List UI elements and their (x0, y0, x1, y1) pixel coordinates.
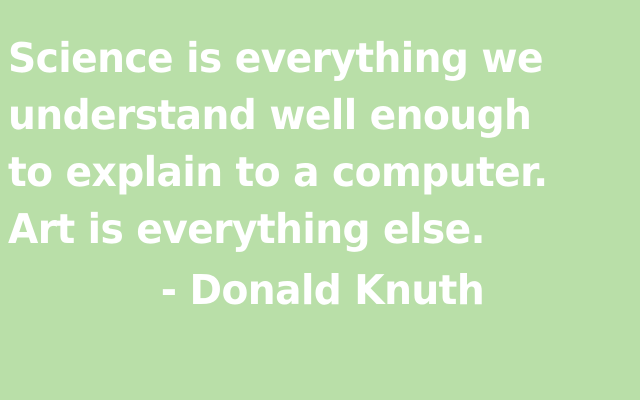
quote-line-4: Art is everything else. (8, 201, 606, 258)
quote-text-block: Science is everything we understand well… (8, 30, 634, 258)
quote-line-2: understand well enough (8, 87, 606, 144)
quote-line-1: Science is everything we (8, 30, 606, 87)
quote-line-3: to explain to a computer. (8, 144, 606, 201)
quote-card: Science is everything we understand well… (0, 0, 640, 400)
quote-attribution: - Donald Knuth (8, 262, 606, 319)
